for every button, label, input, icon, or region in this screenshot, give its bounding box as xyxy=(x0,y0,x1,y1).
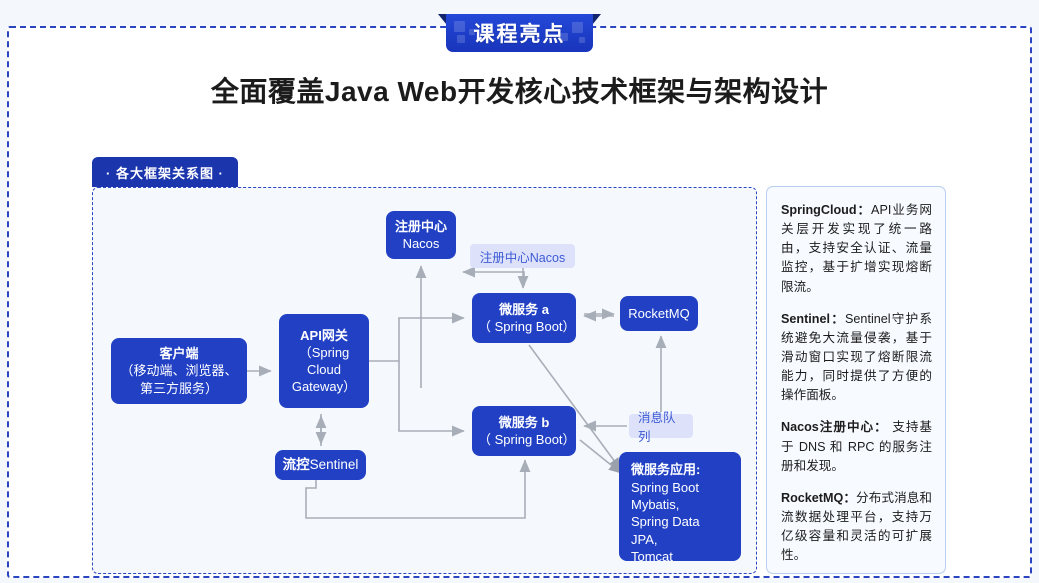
node-microservice-app: 微服务应用: Spring Boot Mybatis, Spring Data … xyxy=(619,452,741,561)
info-term-rocketmq: RocketMQ： xyxy=(781,491,856,505)
node-nacos-line1: 注册中心 xyxy=(395,218,447,235)
node-microservice-b-line2: （ Spring Boot） xyxy=(478,431,570,448)
info-item-sentinel: Sentinel：Sentinel守护系统避免大流量侵袭，基于滑动窗口实现了熔断… xyxy=(781,310,932,406)
info-term-nacos: Nacos注册中心： xyxy=(781,420,888,434)
node-client: 客户端 （移动端、浏览器、 第三方服务） xyxy=(111,338,247,404)
node-app-line1: 微服务应用: xyxy=(631,461,700,478)
node-gateway-line2: （Spring xyxy=(299,344,350,361)
node-microservice-a-line1: 微服务 a xyxy=(499,301,549,318)
node-sentinel: 流控 Sentinel xyxy=(275,450,366,480)
diagram-section-label: · 各大框架关系图 · xyxy=(92,157,238,187)
info-item-springcloud: SpringCloud：API业务网关层开发实现了统一路由，支持安全认证、流量监… xyxy=(781,201,932,297)
node-gateway-line3: Cloud xyxy=(307,361,341,378)
node-rocketmq: RocketMQ xyxy=(620,296,698,331)
node-nacos-registry: 注册中心 Nacos xyxy=(386,211,456,259)
info-item-nacos: Nacos注册中心： 支持基于 DNS 和 RPC 的服务注册和发现。 xyxy=(781,418,932,475)
node-microservice-a: 微服务 a （ Spring Boot） xyxy=(472,293,576,343)
chip-message-queue: 消息队列 xyxy=(629,414,693,438)
section-banner: 课程亮点 xyxy=(438,14,601,52)
node-nacos-line2: Nacos xyxy=(403,235,440,252)
architecture-diagram: 客户端 （移动端、浏览器、 第三方服务） API网关 （Spring Cloud… xyxy=(92,187,757,574)
chip-nacos-registry: 注册中心Nacos xyxy=(470,244,575,268)
node-app-line4: Spring Data JPA, xyxy=(631,513,729,547)
node-gateway-line4: Gateway） xyxy=(292,378,356,395)
info-item-rocketmq: RocketMQ：分布式消息和流数据处理平台，支持万亿级容量和灵活的可扩展性。 xyxy=(781,489,932,566)
node-rocketmq-label: RocketMQ xyxy=(628,305,689,322)
banner-title: 课程亮点 xyxy=(438,14,601,52)
page-root: 课程亮点 全面覆盖Java Web开发核心技术框架与架构设计 · 各大框架关系图… xyxy=(0,0,1039,583)
node-microservice-b-line1: 微服务 b xyxy=(499,414,550,431)
node-app-line2: Spring Boot xyxy=(631,479,699,496)
tech-description-panel: SpringCloud：API业务网关层开发实现了统一路由，支持安全认证、流量监… xyxy=(766,186,946,574)
node-app-line5: Tomcat xyxy=(631,548,673,565)
info-term-sentinel: Sentinel： xyxy=(781,312,845,326)
page-title: 全面覆盖Java Web开发核心技术框架与架构设计 xyxy=(0,70,1039,110)
node-client-line3: 第三方服务） xyxy=(140,380,218,397)
node-microservice-a-line2: （ Spring Boot） xyxy=(478,318,570,335)
node-microservice-b: 微服务 b （ Spring Boot） xyxy=(472,406,576,456)
info-term-springcloud: SpringCloud： xyxy=(781,203,871,217)
node-client-line2: （移动端、浏览器、 xyxy=(120,362,237,379)
node-sentinel-regular: Sentinel xyxy=(310,456,359,474)
node-client-line1: 客户端 xyxy=(159,345,198,362)
node-app-line3: Mybatis, xyxy=(631,496,679,513)
node-sentinel-bold: 流控 xyxy=(283,456,310,474)
node-gateway-line1: API网关 xyxy=(300,327,348,344)
node-api-gateway: API网关 （Spring Cloud Gateway） xyxy=(279,314,369,408)
